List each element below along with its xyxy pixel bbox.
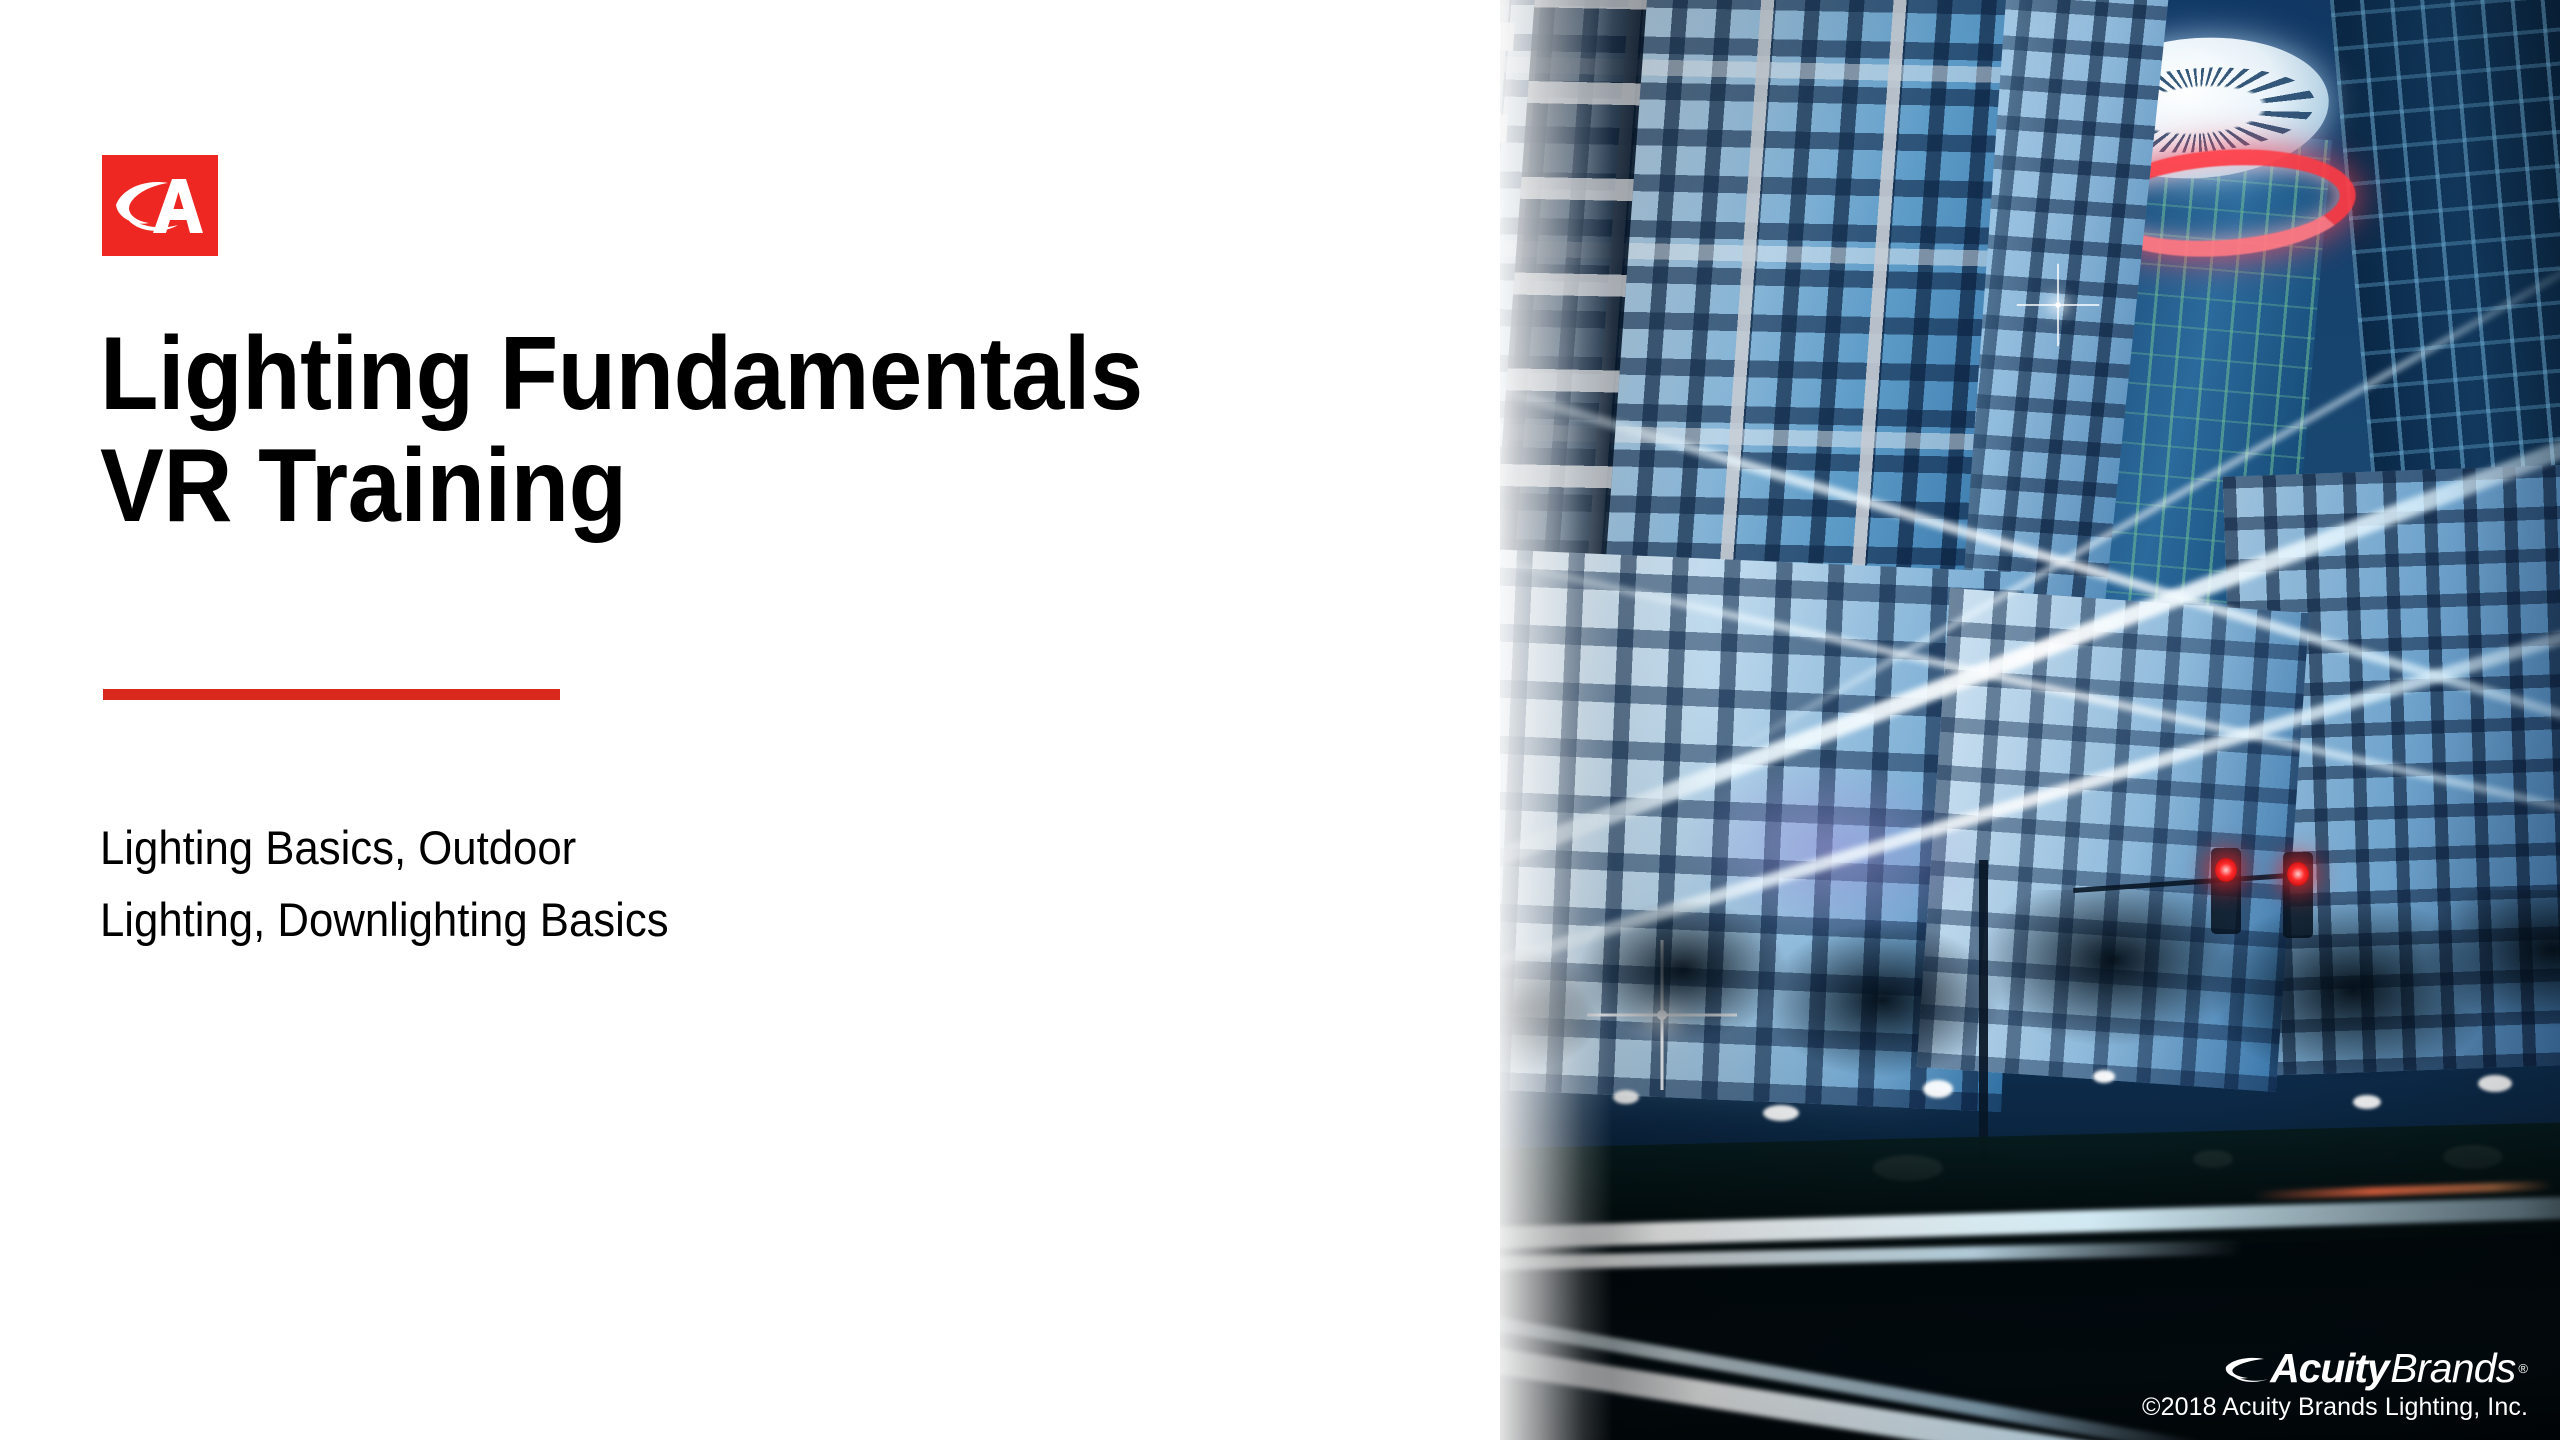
title-content-panel: Lighting Fundamentals VR Training Lighti… bbox=[0, 0, 1500, 1440]
title-line-2: VR Training bbox=[100, 430, 1370, 542]
traffic-light-2-red-lamp bbox=[2287, 862, 2309, 886]
wordmark-acuity: Acuity bbox=[2270, 1348, 2388, 1389]
cityscape-photo: Acuity Brands ® ©2018 Acuity Brands Ligh… bbox=[1493, 0, 2560, 1440]
acuity-a-mark-logo bbox=[102, 155, 218, 256]
cityscape-photo-inner: Acuity Brands ® ©2018 Acuity Brands Ligh… bbox=[1493, 0, 2560, 1440]
copyright-text: ©2018 Acuity Brands Lighting, Inc. bbox=[2142, 1393, 2528, 1422]
page-title: Lighting Fundamentals VR Training bbox=[100, 318, 1480, 542]
subtitle-line-1: Lighting Basics, Outdoor bbox=[100, 812, 1309, 884]
presentation-title-slide: Lighting Fundamentals VR Training Lighti… bbox=[0, 0, 2560, 1440]
title-line-1: Lighting Fundamentals bbox=[100, 318, 1370, 430]
subtitle-line-2: Lighting, Downlighting Basics bbox=[100, 884, 1309, 956]
registered-mark: ® bbox=[2518, 1362, 2528, 1375]
title-divider-rule bbox=[103, 689, 560, 700]
wordmark-brands: Brands bbox=[2390, 1348, 2515, 1389]
photo-footer-branding: Acuity Brands ® ©2018 Acuity Brands Ligh… bbox=[2142, 1348, 2528, 1422]
acuity-swoosh-icon bbox=[2224, 1354, 2270, 1384]
subtitle: Lighting Basics, Outdoor Lighting, Downl… bbox=[100, 812, 1400, 956]
acuity-brands-wordmark: Acuity Brands ® bbox=[2142, 1348, 2528, 1389]
lens-flare-starburst-2 bbox=[2055, 302, 2061, 308]
traffic-light-1-red-lamp bbox=[2215, 858, 2237, 882]
